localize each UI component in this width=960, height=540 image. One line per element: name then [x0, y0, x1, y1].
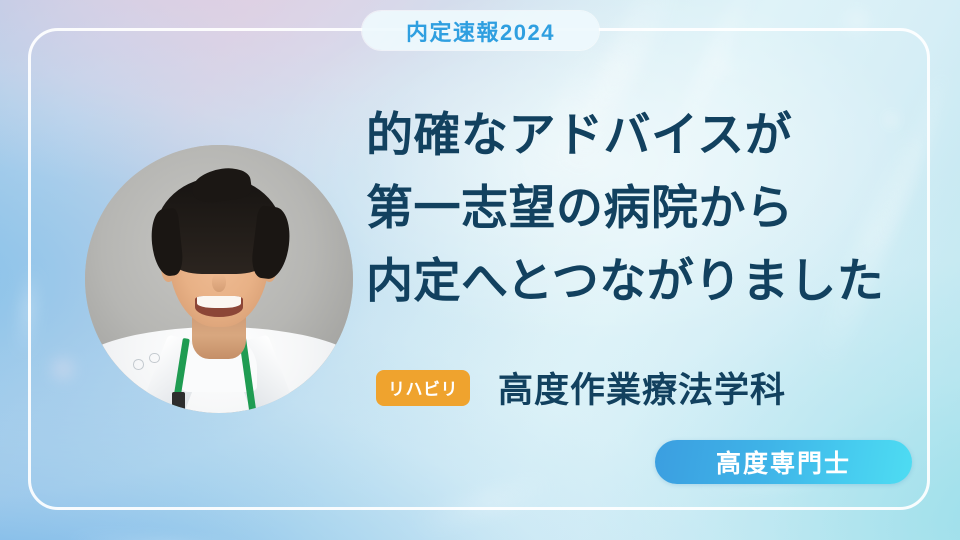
smiling-mouth: [195, 296, 243, 316]
student-portrait-photo: [85, 145, 353, 413]
department-row: リハビリ 高度作業療法学科: [376, 362, 786, 413]
promo-banner: 内定速報2024 的確なアドバイスが 第一志望の病院から 内定へとつながりました: [0, 0, 960, 540]
coat-button: [133, 359, 144, 370]
nose: [212, 274, 225, 293]
qualification-badge-label: 高度専門士: [716, 444, 851, 480]
qualification-badge: 高度専門士: [655, 440, 912, 484]
headline: 的確なアドバイスが 第一志望の病院から 内定へとつながりました: [366, 100, 926, 319]
headline-line-1: 的確なアドバイスが: [366, 100, 926, 173]
headline-line-3: 内定へとつながりました: [366, 246, 926, 319]
headline-eyebrow-badge: 内定速報2024: [362, 11, 599, 50]
headline-eyebrow-label: 内定速報2024: [406, 15, 555, 47]
teeth: [197, 296, 241, 308]
coat-button: [149, 353, 160, 364]
lanyard-id-badge: [172, 392, 185, 413]
headline-line-2: 第一志望の病院から: [366, 173, 926, 246]
department-category-tag: リハビリ: [376, 370, 470, 406]
department-name: 高度作業療法学科: [498, 362, 786, 413]
department-category-label: リハビリ: [388, 375, 458, 400]
